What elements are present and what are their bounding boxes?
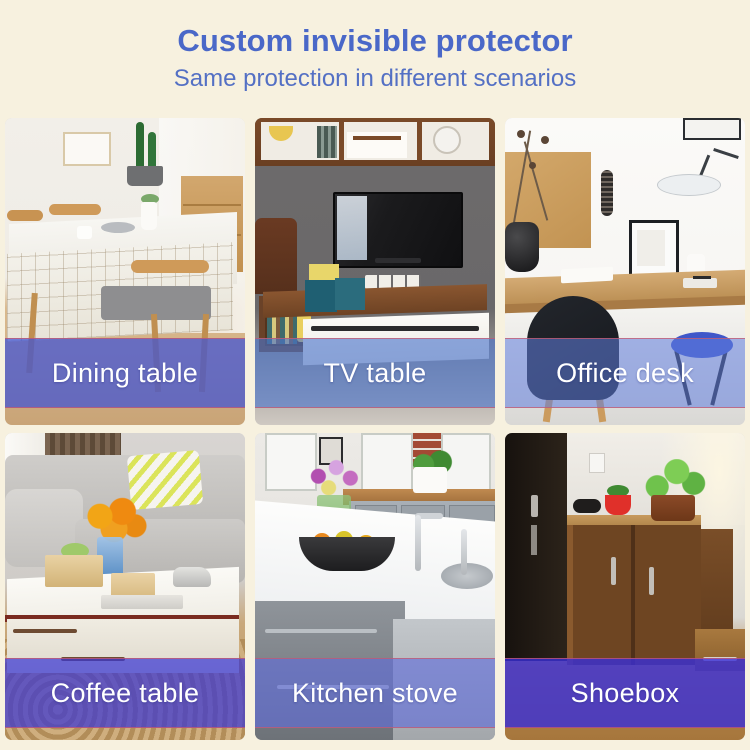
page-subtitle: Same protection in different scenarios (0, 64, 750, 94)
wall-frame (683, 118, 741, 140)
cabinet-door-split (631, 525, 635, 665)
scenario-label: Coffee table (51, 678, 200, 709)
cabinet-handle (649, 567, 654, 595)
wooden-box (45, 555, 103, 587)
page-title: Custom invisible protector (0, 22, 750, 60)
scenario-label: Kitchen stove (292, 678, 458, 709)
black-vase (505, 222, 539, 272)
scenario-card-shoebox[interactable]: Shoebox (505, 433, 745, 740)
cup (77, 226, 92, 239)
scenario-label-band: Coffee table (5, 658, 245, 728)
clock (433, 126, 461, 154)
scenario-card-dining-table[interactable]: Dining table (5, 118, 245, 425)
scenario-label-band: Office desk (505, 338, 745, 408)
branch-bud (517, 130, 525, 138)
door-handle (531, 495, 538, 517)
red-pot (605, 495, 631, 515)
chair-back-left (49, 204, 101, 215)
scenario-card-coffee-table[interactable]: Coffee table (5, 433, 245, 740)
tv-screen-glare (337, 196, 367, 260)
tv-soundbar (375, 258, 421, 263)
scenario-label: Shoebox (571, 678, 680, 709)
scenario-label-band: Shoebox (505, 658, 745, 728)
drawer-handle (265, 629, 377, 633)
pen (693, 276, 711, 279)
cabinet-line (183, 204, 241, 206)
branch-bud (541, 136, 549, 144)
drawer-handle (13, 629, 77, 633)
scenario-label: TV table (324, 358, 427, 389)
faucet (415, 515, 421, 571)
door-lock (531, 525, 537, 555)
desk-lamp-shade (657, 174, 721, 196)
open-notebook (561, 267, 613, 284)
picture-frame (335, 278, 365, 310)
white-planter (413, 467, 447, 493)
scenario-label-band: Dining table (5, 338, 245, 408)
scenario-label: Dining table (52, 358, 198, 389)
white-vase (141, 202, 157, 230)
cactus-pot (127, 166, 163, 186)
chair-back-right (131, 260, 209, 273)
black-object (573, 499, 601, 513)
scenario-label-band: Kitchen stove (255, 658, 495, 728)
window (361, 433, 413, 493)
plate (101, 222, 135, 233)
branch-bud (529, 162, 536, 169)
cactus-stem (136, 122, 144, 170)
scenario-card-kitchen-stove[interactable]: Kitchen stove (255, 433, 495, 740)
plant-pot (651, 495, 695, 521)
sink-basin (441, 563, 493, 589)
desk-tray (683, 278, 717, 288)
silver-ornament (173, 567, 211, 587)
lamp-arm (713, 148, 739, 159)
faucet (461, 529, 467, 575)
glass-tray (101, 595, 183, 609)
magazine-line (353, 136, 401, 140)
header: Custom invisible protector Same protecti… (0, 0, 750, 94)
cactus-stem (148, 132, 156, 170)
scenario-card-office-desk[interactable]: Office desk (505, 118, 745, 425)
scenario-label: Office desk (556, 358, 694, 389)
chair-back-left (7, 210, 43, 221)
scenario-card-tv-table[interactable]: TV table (255, 118, 495, 425)
shelf-divider (339, 122, 344, 160)
hanging-feather (601, 170, 613, 216)
picture-frame (305, 280, 337, 312)
scenario-grid: Dining table (5, 118, 745, 740)
armchair (255, 218, 297, 294)
books (317, 126, 337, 158)
wall-art (63, 132, 111, 166)
shelf-divider (417, 122, 422, 160)
cabinet-handle (611, 557, 616, 585)
scenario-label-band: TV table (255, 338, 495, 408)
light-switch (589, 453, 605, 473)
framed-art-mat (637, 230, 665, 266)
cabinet-shadow-line (311, 326, 479, 331)
